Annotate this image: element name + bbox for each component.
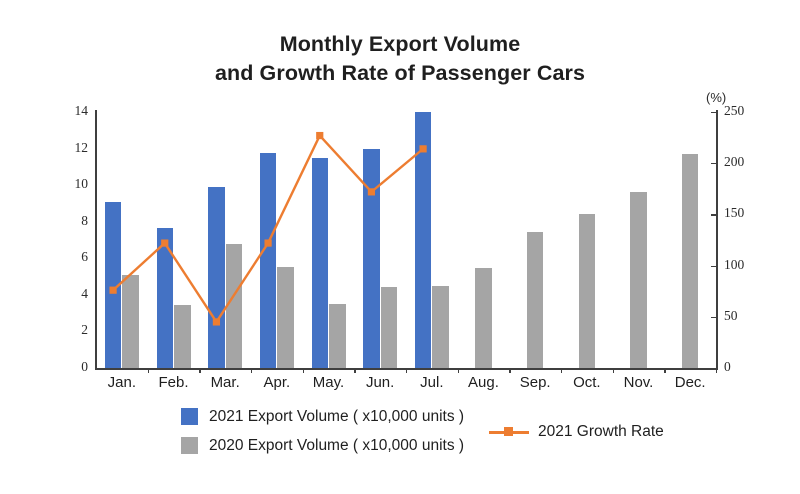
x-axis-tick-mark (716, 368, 717, 373)
x-axis-tick-mark (509, 368, 510, 373)
legend-line-marker-icon (489, 423, 529, 440)
x-axis-tick-mark (199, 368, 200, 373)
bar-2020-export-volume (432, 286, 449, 368)
bar-2021-export-volume (157, 228, 174, 368)
bar-2020-export-volume (174, 305, 191, 368)
bar-2021-export-volume (105, 202, 122, 368)
x-axis-tick-label: Jan. (96, 374, 148, 391)
bar-2020-export-volume (329, 304, 346, 368)
bar-2020-export-volume (475, 268, 492, 368)
y-axis-right-line (716, 110, 718, 370)
y-axis-left-tick-label: 12 (54, 140, 88, 156)
bar-2020-export-volume (381, 287, 398, 368)
chart-title-line-1: Monthly Export Volume (0, 30, 800, 59)
x-axis-tick-label: Dec. (664, 374, 716, 391)
x-axis-tick-label: Aug. (458, 374, 510, 391)
x-axis-tick-mark (458, 368, 459, 373)
chart-legend: 2021 Export Volume ( x10,000 units ) 202… (0, 404, 800, 470)
x-axis-tick-label: Apr. (251, 374, 303, 391)
bar-2020-export-volume (277, 267, 294, 368)
y-axis-left-tick-label: 14 (54, 103, 88, 119)
x-axis-tick-mark (561, 368, 562, 373)
legend-swatch-gray-icon (181, 437, 198, 454)
x-axis-tick-mark (664, 368, 665, 373)
legend-item-2021-growth-rate[interactable]: 2021 Growth Rate (489, 423, 664, 440)
bar-2021-export-volume (363, 149, 380, 368)
bar-2020-export-volume (226, 244, 243, 368)
growth-rate-marker: 227% (316, 132, 323, 139)
x-axis-tick-label: Mar. (199, 374, 251, 391)
y-axis-right-tick-label: 250 (724, 103, 764, 119)
x-axis-tick-label: May. (303, 374, 355, 391)
y-axis-left-tick-label: 6 (54, 249, 88, 265)
x-axis-tick-label: Jul. (406, 374, 458, 391)
legend-item-2020-export-volume[interactable]: 2020 Export Volume ( x10,000 units ) (181, 437, 464, 454)
legend-label-2021-export-volume: 2021 Export Volume ( x10,000 units ) (209, 408, 464, 425)
bar-2020-export-volume (527, 232, 544, 368)
y-axis-left-tick-label: 2 (54, 322, 88, 338)
y-axis-left-tick-label: 10 (54, 176, 88, 192)
bar-2020-export-volume (579, 214, 596, 368)
legend-item-2021-export-volume[interactable]: 2021 Export Volume ( x10,000 units ) (181, 408, 464, 425)
y-axis-right-tick-label: 150 (724, 205, 764, 221)
x-axis-tick-label: Nov. (613, 374, 665, 391)
y-axis-right-tick-label: 100 (724, 257, 764, 273)
bar-2021-export-volume (208, 187, 225, 368)
y-axis-right-tick-label: 200 (724, 154, 764, 170)
y-axis-right-tick-label: 0 (724, 359, 764, 375)
legend-label-2020-export-volume: 2020 Export Volume ( x10,000 units ) (209, 437, 464, 454)
x-axis-tick-mark (406, 368, 407, 373)
bar-2021-export-volume (260, 153, 277, 368)
chart-title: Monthly Export Volume and Growth Rate of… (0, 30, 800, 88)
y-axis-right-tick-label: 50 (724, 308, 764, 324)
chart-title-line-2: and Growth Rate of Passenger Cars (0, 59, 800, 88)
x-axis-tick-mark (613, 368, 614, 373)
y-axis-left-tick-label: 0 (54, 359, 88, 375)
y-axis-left-tick-label: 4 (54, 286, 88, 302)
x-axis-tick-mark (354, 368, 355, 373)
x-axis-tick-label: Sep. (509, 374, 561, 391)
bar-2020-export-volume (630, 192, 647, 368)
bar-2020-export-volume (682, 154, 699, 368)
x-axis-tick-mark (251, 368, 252, 373)
bar-2020-export-volume (122, 275, 139, 368)
x-axis-tick-mark (303, 368, 304, 373)
plot-area: 76%122%45%122%227%172%214% (96, 112, 716, 368)
x-axis-tick-label: Oct. (561, 374, 613, 391)
legend-swatch-blue-icon (181, 408, 198, 425)
y-axis-left-tick-label: 8 (54, 213, 88, 229)
legend-label-2021-growth-rate: 2021 Growth Rate (538, 423, 664, 440)
x-axis-tick-label: Feb. (148, 374, 200, 391)
bar-2021-export-volume (415, 112, 432, 368)
chart-container: Monthly Export Volume and Growth Rate of… (0, 0, 800, 494)
x-axis-tick-mark (148, 368, 149, 373)
x-axis-tick-label: Jun. (354, 374, 406, 391)
bar-2021-export-volume (312, 158, 329, 368)
